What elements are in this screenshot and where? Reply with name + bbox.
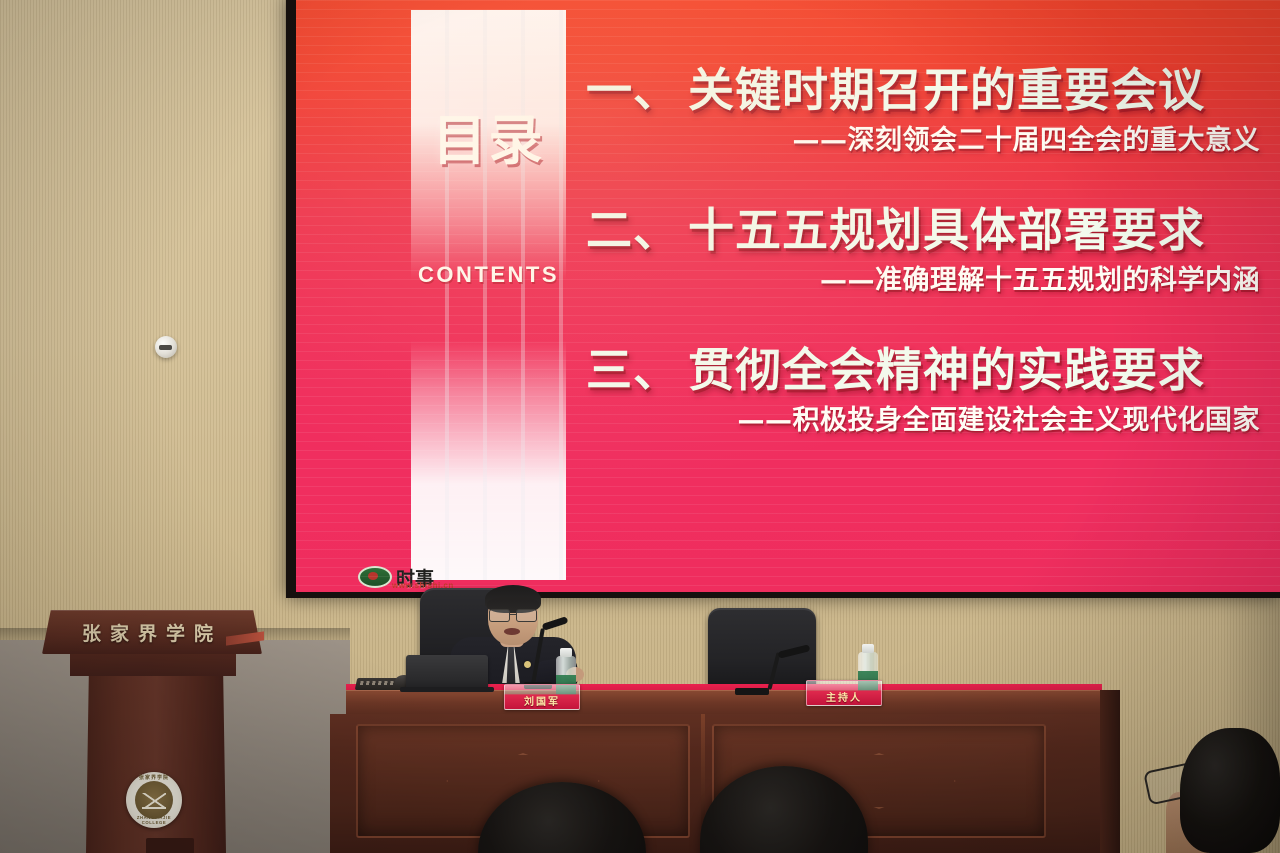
agenda-item: 一、关键时期召开的重要会议 ——深刻领会二十届四全会的重大意义 — [586, 62, 1266, 158]
agenda-item: 三、贯彻全会精神的实践要求 ——积极投身全面建设社会主义现代化国家 — [586, 342, 1266, 438]
seal-top-text: 张家界学院 — [126, 774, 182, 781]
agenda-title-row: 二、十五五规划具体部署要求 — [586, 202, 1266, 258]
agenda-number: 三、 — [586, 343, 680, 397]
college-seal-icon: 张家界学院 ZHANGJIAJIE COLLEGE — [126, 772, 182, 828]
agenda-subtitle: ——积极投身全面建设社会主义现代化国家 — [586, 404, 1266, 438]
nameplate-speaker: 刘国军 — [504, 684, 580, 710]
seal-inner — [135, 781, 173, 819]
agenda-title: 十五五规划具体部署要求 — [688, 203, 1205, 257]
speaker-mouth — [504, 628, 520, 635]
podium-neck — [70, 654, 236, 676]
agenda-subtitle: ——准确理解十五五规划的科学内涵 — [586, 264, 1266, 298]
nameplate-text: 主持人 — [807, 689, 881, 704]
agenda-number: 一、 — [586, 63, 680, 117]
lecture-hall-photo: 目录 CONTENTS 一、关键时期召开的重要会议 ——深刻领会二十届四全会的重… — [0, 0, 1280, 853]
agenda-title-row: 一、关键时期召开的重要会议 — [586, 62, 1266, 118]
nameplate-text: 刘国军 — [505, 693, 579, 708]
watermark-eye-icon — [358, 566, 392, 588]
speaker-lapel-pin-icon — [524, 661, 531, 668]
seal-bottom-text: ZHANGJIAJIE COLLEGE — [126, 815, 182, 825]
podium-base — [146, 838, 194, 853]
agenda-title-row: 三、贯彻全会精神的实践要求 — [586, 342, 1266, 398]
agenda-number: 二、 — [586, 203, 680, 257]
contents-band — [411, 10, 566, 580]
agenda-title: 贯彻全会精神的实践要求 — [688, 343, 1205, 397]
nameplate-moderator: 主持人 — [806, 680, 882, 706]
table-right-edge — [1100, 690, 1120, 853]
agenda-title: 关键时期召开的重要会议 — [688, 63, 1205, 117]
agenda-item: 二、十五五规划具体部署要求 ——准确理解十五五规划的科学内涵 — [586, 202, 1266, 298]
podium-label: 张家界学院 — [42, 619, 262, 646]
table-top — [346, 690, 1102, 716]
slide-heading-cn: 目录 — [411, 108, 566, 174]
speaker-glasses-icon — [488, 609, 538, 620]
wall-sensor-icon — [155, 336, 177, 358]
mountain-peaks-icon — [142, 793, 166, 809]
microphone-base — [735, 688, 769, 695]
presentation-screen: 目录 CONTENTS 一、关键时期召开的重要会议 ——深刻领会二十届四全会的重… — [296, 0, 1280, 592]
slide-agenda-list: 一、关键时期召开的重要会议 ——深刻领会二十届四全会的重大意义 二、十五五规划具… — [586, 62, 1266, 482]
agenda-subtitle: ——深刻领会二十届四全会的重大意义 — [586, 124, 1266, 158]
bottle-cap — [560, 648, 572, 657]
podium: 张家界学院 张家界学院 ZHANGJIAJIE COLLEGE — [26, 610, 278, 853]
bottle-cap — [862, 644, 874, 653]
laptop — [406, 655, 488, 688]
slide-heading-en: CONTENTS — [411, 262, 566, 288]
audience-head — [1180, 728, 1280, 853]
